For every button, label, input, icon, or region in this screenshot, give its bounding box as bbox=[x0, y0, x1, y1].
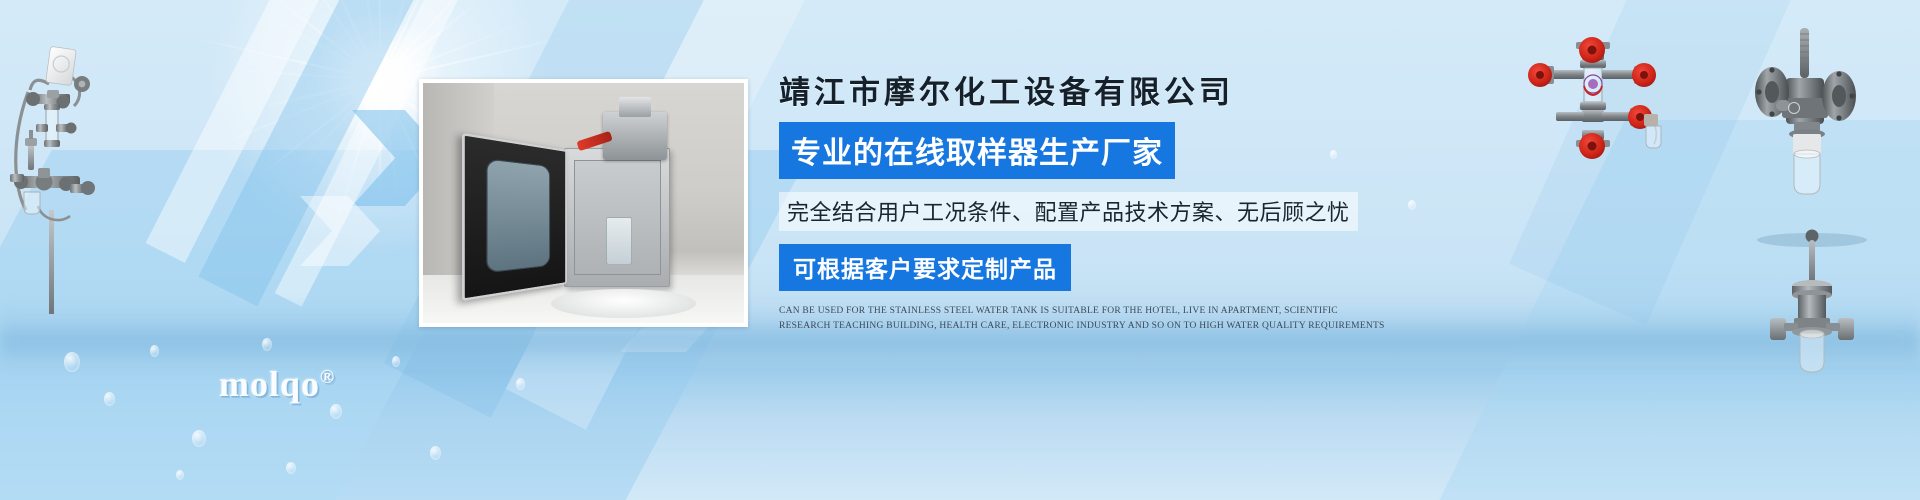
sun-ray-icon bbox=[272, 18, 380, 82]
sun-ray-icon bbox=[256, 79, 380, 179]
water-droplet-icon bbox=[104, 392, 115, 406]
sun-ray-icon bbox=[380, 19, 532, 81]
sun-ray-icon bbox=[199, 79, 381, 153]
sun-ray-icon bbox=[254, 0, 380, 81]
chevron-arrow-icon bbox=[300, 196, 380, 266]
sun-ray-icon bbox=[189, 36, 380, 81]
water-droplet-icon bbox=[516, 378, 525, 390]
right-product-lever-valve bbox=[1742, 24, 1872, 224]
english-description: CAN BE USED FOR THE STAINLESS STEEL WATE… bbox=[779, 304, 1391, 335]
brand-watermark-text: molqo bbox=[219, 364, 320, 404]
sun-ray-icon bbox=[379, 0, 515, 81]
left-product-render bbox=[8, 24, 188, 314]
sun-ray-icon bbox=[268, 0, 381, 80]
sun-ray-icon bbox=[380, 35, 575, 81]
sun-ray-icon bbox=[334, 80, 381, 231]
water-droplet-icon bbox=[392, 356, 400, 367]
water-droplet-icon bbox=[330, 404, 342, 419]
promo-banner: 靖江市摩尔化工设备有限公司 专业的在线取样器生产厂家 完全结合用户工况条件、配置… bbox=[0, 0, 1920, 500]
water-droplet-icon bbox=[286, 462, 296, 474]
feature-line: 完全结合用户工况条件、配置产品技术方案、无后顾之忧 bbox=[779, 192, 1358, 231]
water-droplet-icon bbox=[262, 338, 272, 351]
sun-ray-icon bbox=[379, 80, 402, 208]
sun-ray-icon bbox=[261, 79, 381, 109]
secondary-headline-badge: 可根据客户要求定制产品 bbox=[779, 244, 1071, 291]
sun-ray-icon bbox=[325, 0, 382, 81]
sun-ray-icon bbox=[379, 0, 451, 80]
right-product-cross-sampler bbox=[1518, 34, 1678, 164]
water-droplet-icon bbox=[430, 446, 441, 460]
brand-watermark: molqo® bbox=[219, 363, 335, 405]
center-product-photo bbox=[419, 79, 748, 327]
right-product-bottom-sampler bbox=[1752, 222, 1872, 382]
water-droplet-icon bbox=[1408, 200, 1416, 210]
water-droplet-icon bbox=[192, 430, 206, 447]
sun-ray-icon bbox=[297, 79, 381, 170]
sun-ray-icon bbox=[379, 80, 382, 200]
primary-headline-badge: 专业的在线取样器生产厂家 bbox=[779, 122, 1175, 179]
sun-ray-icon bbox=[379, 0, 418, 80]
sun-ray-icon bbox=[379, 0, 381, 80]
sun-ray-icon bbox=[295, 80, 381, 255]
water-droplet-icon bbox=[150, 345, 159, 357]
diagonal-ribbon-icon bbox=[198, 0, 438, 306]
sun-ray-icon bbox=[354, 0, 380, 80]
water-droplet-icon bbox=[64, 352, 80, 372]
company-name: 靖江市摩尔化工设备有限公司 bbox=[779, 74, 1399, 113]
sun-ray-icon bbox=[379, 0, 479, 81]
headline-text-block: 靖江市摩尔化工设备有限公司 专业的在线取样器生产厂家 完全结合用户工况条件、配置… bbox=[779, 74, 1399, 335]
registered-mark-icon: ® bbox=[320, 367, 335, 388]
water-droplet-icon bbox=[176, 470, 184, 480]
sun-ray-icon bbox=[221, 68, 380, 81]
